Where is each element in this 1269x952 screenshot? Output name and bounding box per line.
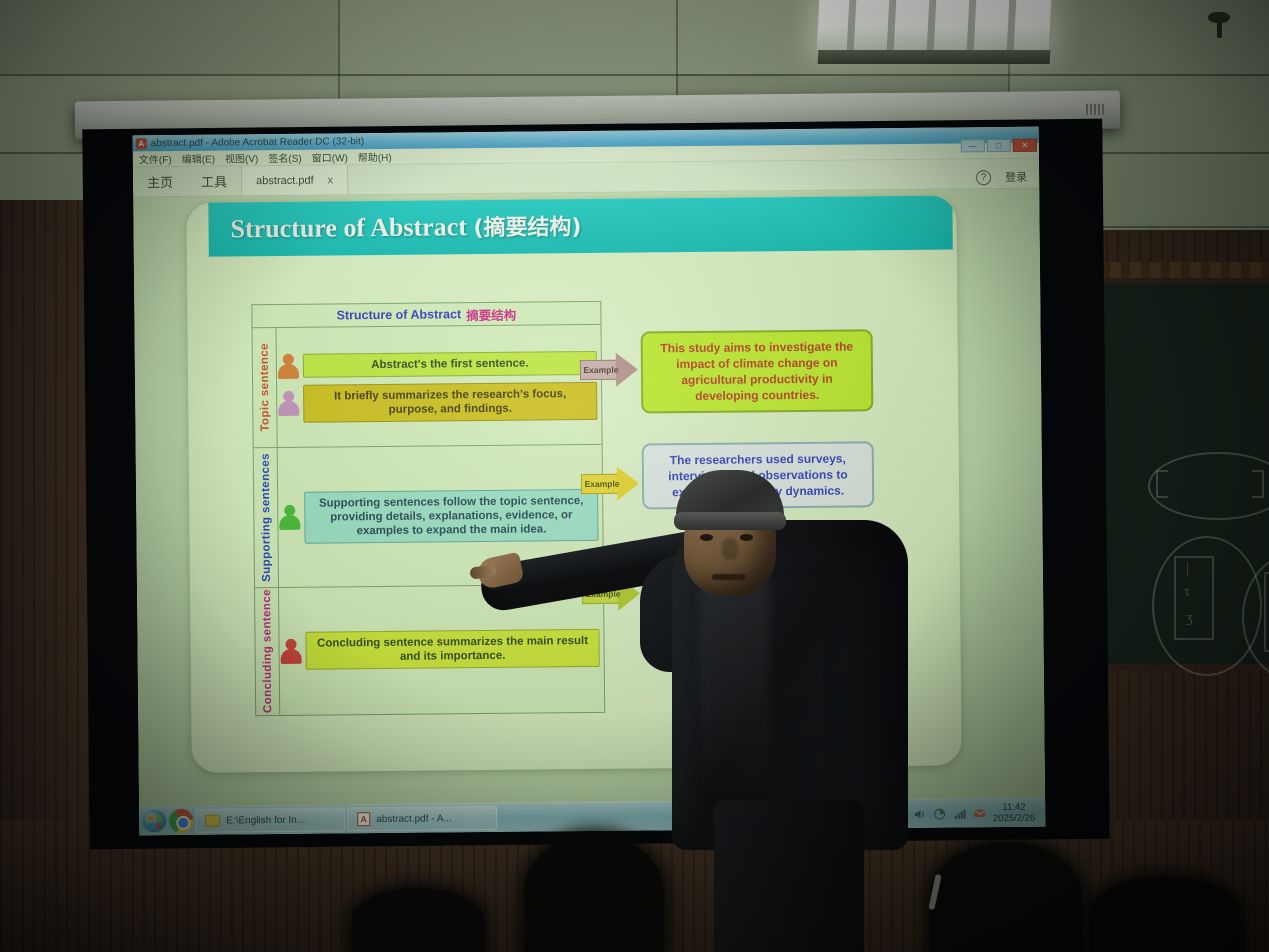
signal-icon[interactable] xyxy=(953,807,966,820)
window-title: abstract.pdf - Adobe Acrobat Reader DC (… xyxy=(151,136,365,149)
slide-title-cn: (摘要结构) xyxy=(473,215,581,241)
screen-housing-end-cap xyxy=(1086,104,1104,115)
audience-head xyxy=(930,842,1082,952)
audience-head xyxy=(1090,876,1240,952)
volume-icon[interactable] xyxy=(913,807,926,820)
light-louvers xyxy=(817,0,1052,50)
slide-title-en: Structure of Abstract xyxy=(230,212,467,243)
taskbar-item-folder[interactable]: E:\English for In... xyxy=(195,807,345,832)
example-arrow-icon-1: Example xyxy=(580,353,638,388)
lecture-room-photo: | τ ʒ abstract.pdf - Adobe Acrobat Reade… xyxy=(0,0,1269,952)
menu-item-file[interactable]: 文件(F) xyxy=(139,151,172,166)
topic-box-1: Abstract's the first sentence. xyxy=(303,351,597,378)
close-button[interactable]: ✕ xyxy=(1013,139,1037,152)
page-title: Structure of Abstract (摘要结构) xyxy=(230,209,581,244)
network-icon[interactable] xyxy=(933,807,946,820)
acrobat-icon xyxy=(357,812,370,826)
tab-home[interactable]: 主页 xyxy=(133,167,187,197)
slide-title-band: Structure of Abstract (摘要结构) xyxy=(208,195,953,256)
folder-icon xyxy=(205,815,220,827)
example-arrow-label-2: Example xyxy=(584,479,619,489)
acrobat-icon xyxy=(136,138,147,149)
presenter-hat-brim xyxy=(674,512,786,530)
presenter-eye-left xyxy=(700,534,713,541)
diagram-header-cn: 摘要结构 xyxy=(466,304,516,323)
menu-item-window[interactable]: 窗口(W) xyxy=(312,149,348,164)
person-icon-red xyxy=(279,637,302,664)
table-row: Concluding sentence Concluding sentence … xyxy=(255,585,604,714)
person-icon-orange xyxy=(277,352,300,379)
pdf-document-area[interactable]: Structure of Abstract (摘要结构) Structure o… xyxy=(133,189,1045,807)
taskbar-item-acrobat-label: abstract.pdf - A... xyxy=(376,813,452,825)
list-item: It briefly summarizes the research's foc… xyxy=(277,381,597,422)
tabstrip-right-group: ? 登录 xyxy=(976,159,1039,189)
presenter-legs xyxy=(714,800,864,952)
topic-box-2: It briefly summarizes the research's foc… xyxy=(303,381,597,422)
row-label-supporting-sentences: Supporting sentences xyxy=(254,448,279,587)
sprinkler-head-icon xyxy=(1206,10,1232,38)
row-body-topic: Abstract's the first sentence. It briefl… xyxy=(277,325,602,447)
presenter-mouth xyxy=(712,574,746,580)
audience-head xyxy=(352,888,484,952)
abstract-structure-table: Structure of Abstract 摘要结构 Topic sentenc… xyxy=(251,301,605,716)
minimize-button[interactable]: — xyxy=(961,139,985,152)
concluding-box-1: Concluding sentence summarizes the main … xyxy=(305,629,599,670)
menu-item-sign[interactable]: 签名(S) xyxy=(268,150,301,165)
system-tray[interactable]: 11:42 2025/2/26 xyxy=(913,802,1045,825)
ceiling-light-panel xyxy=(817,0,1052,50)
row-label-topic-sentence: Topic sentence xyxy=(253,328,278,447)
list-item: Concluding sentence summarizes the main … xyxy=(279,629,599,670)
menu-item-help[interactable]: 帮助(H) xyxy=(358,149,392,164)
start-button-icon[interactable] xyxy=(141,809,167,833)
tab-document[interactable]: abstract.pdf x xyxy=(241,165,348,195)
clock-time: 11:42 xyxy=(993,802,1035,813)
audience-head xyxy=(524,834,664,952)
help-icon[interactable]: ? xyxy=(976,170,991,185)
menu-item-edit[interactable]: 编辑(E) xyxy=(182,151,215,166)
taskbar-item-acrobat[interactable]: abstract.pdf - A... xyxy=(347,806,497,831)
diagram-header-en: Structure of Abstract xyxy=(337,307,462,322)
projected-desktop: abstract.pdf - Adobe Acrobat Reader DC (… xyxy=(133,127,1046,836)
presenter-jacket-highlight xyxy=(700,560,770,810)
message-icon[interactable] xyxy=(973,807,986,820)
example-arrow-icon-2: Example xyxy=(581,467,639,502)
menu-item-view[interactable]: 视图(V) xyxy=(225,150,258,165)
tab-tools[interactable]: 工具 xyxy=(187,166,241,196)
diagram-header: Structure of Abstract 摘要结构 xyxy=(252,302,600,328)
supporting-box-1: Supporting sentences follow the topic se… xyxy=(304,488,598,543)
person-icon-pink xyxy=(277,390,300,417)
light-fixture-edge xyxy=(818,50,1051,64)
window-controls[interactable]: — □ ✕ xyxy=(961,139,1037,153)
table-row: Topic sentence Abstract's the first sent… xyxy=(253,325,602,448)
signin-button[interactable]: 登录 xyxy=(1005,169,1027,185)
list-item: Abstract's the first sentence. xyxy=(277,349,597,379)
row-label-concluding-sentence: Concluding sentence xyxy=(255,588,280,714)
list-item: Supporting sentences follow the topic se… xyxy=(278,488,598,543)
taskbar-item-folder-label: E:\English for In... xyxy=(226,814,305,826)
row-body-concluding: Concluding sentence summarizes the main … xyxy=(279,585,604,714)
example-box-topic: This study aims to investigate the impac… xyxy=(641,329,874,413)
presenter-nose xyxy=(722,538,738,560)
chrome-icon[interactable] xyxy=(169,809,193,833)
example-arrow-label-1: Example xyxy=(583,365,618,375)
presenter-eye-right xyxy=(740,534,753,541)
tab-document-label: abstract.pdf xyxy=(256,174,314,187)
clock-date: 2025/2/26 xyxy=(993,813,1035,824)
close-icon[interactable]: x xyxy=(328,174,334,186)
taskbar-clock[interactable]: 11:42 2025/2/26 xyxy=(993,802,1039,824)
person-icon-green xyxy=(278,504,301,531)
maximize-button[interactable]: □ xyxy=(987,139,1011,152)
